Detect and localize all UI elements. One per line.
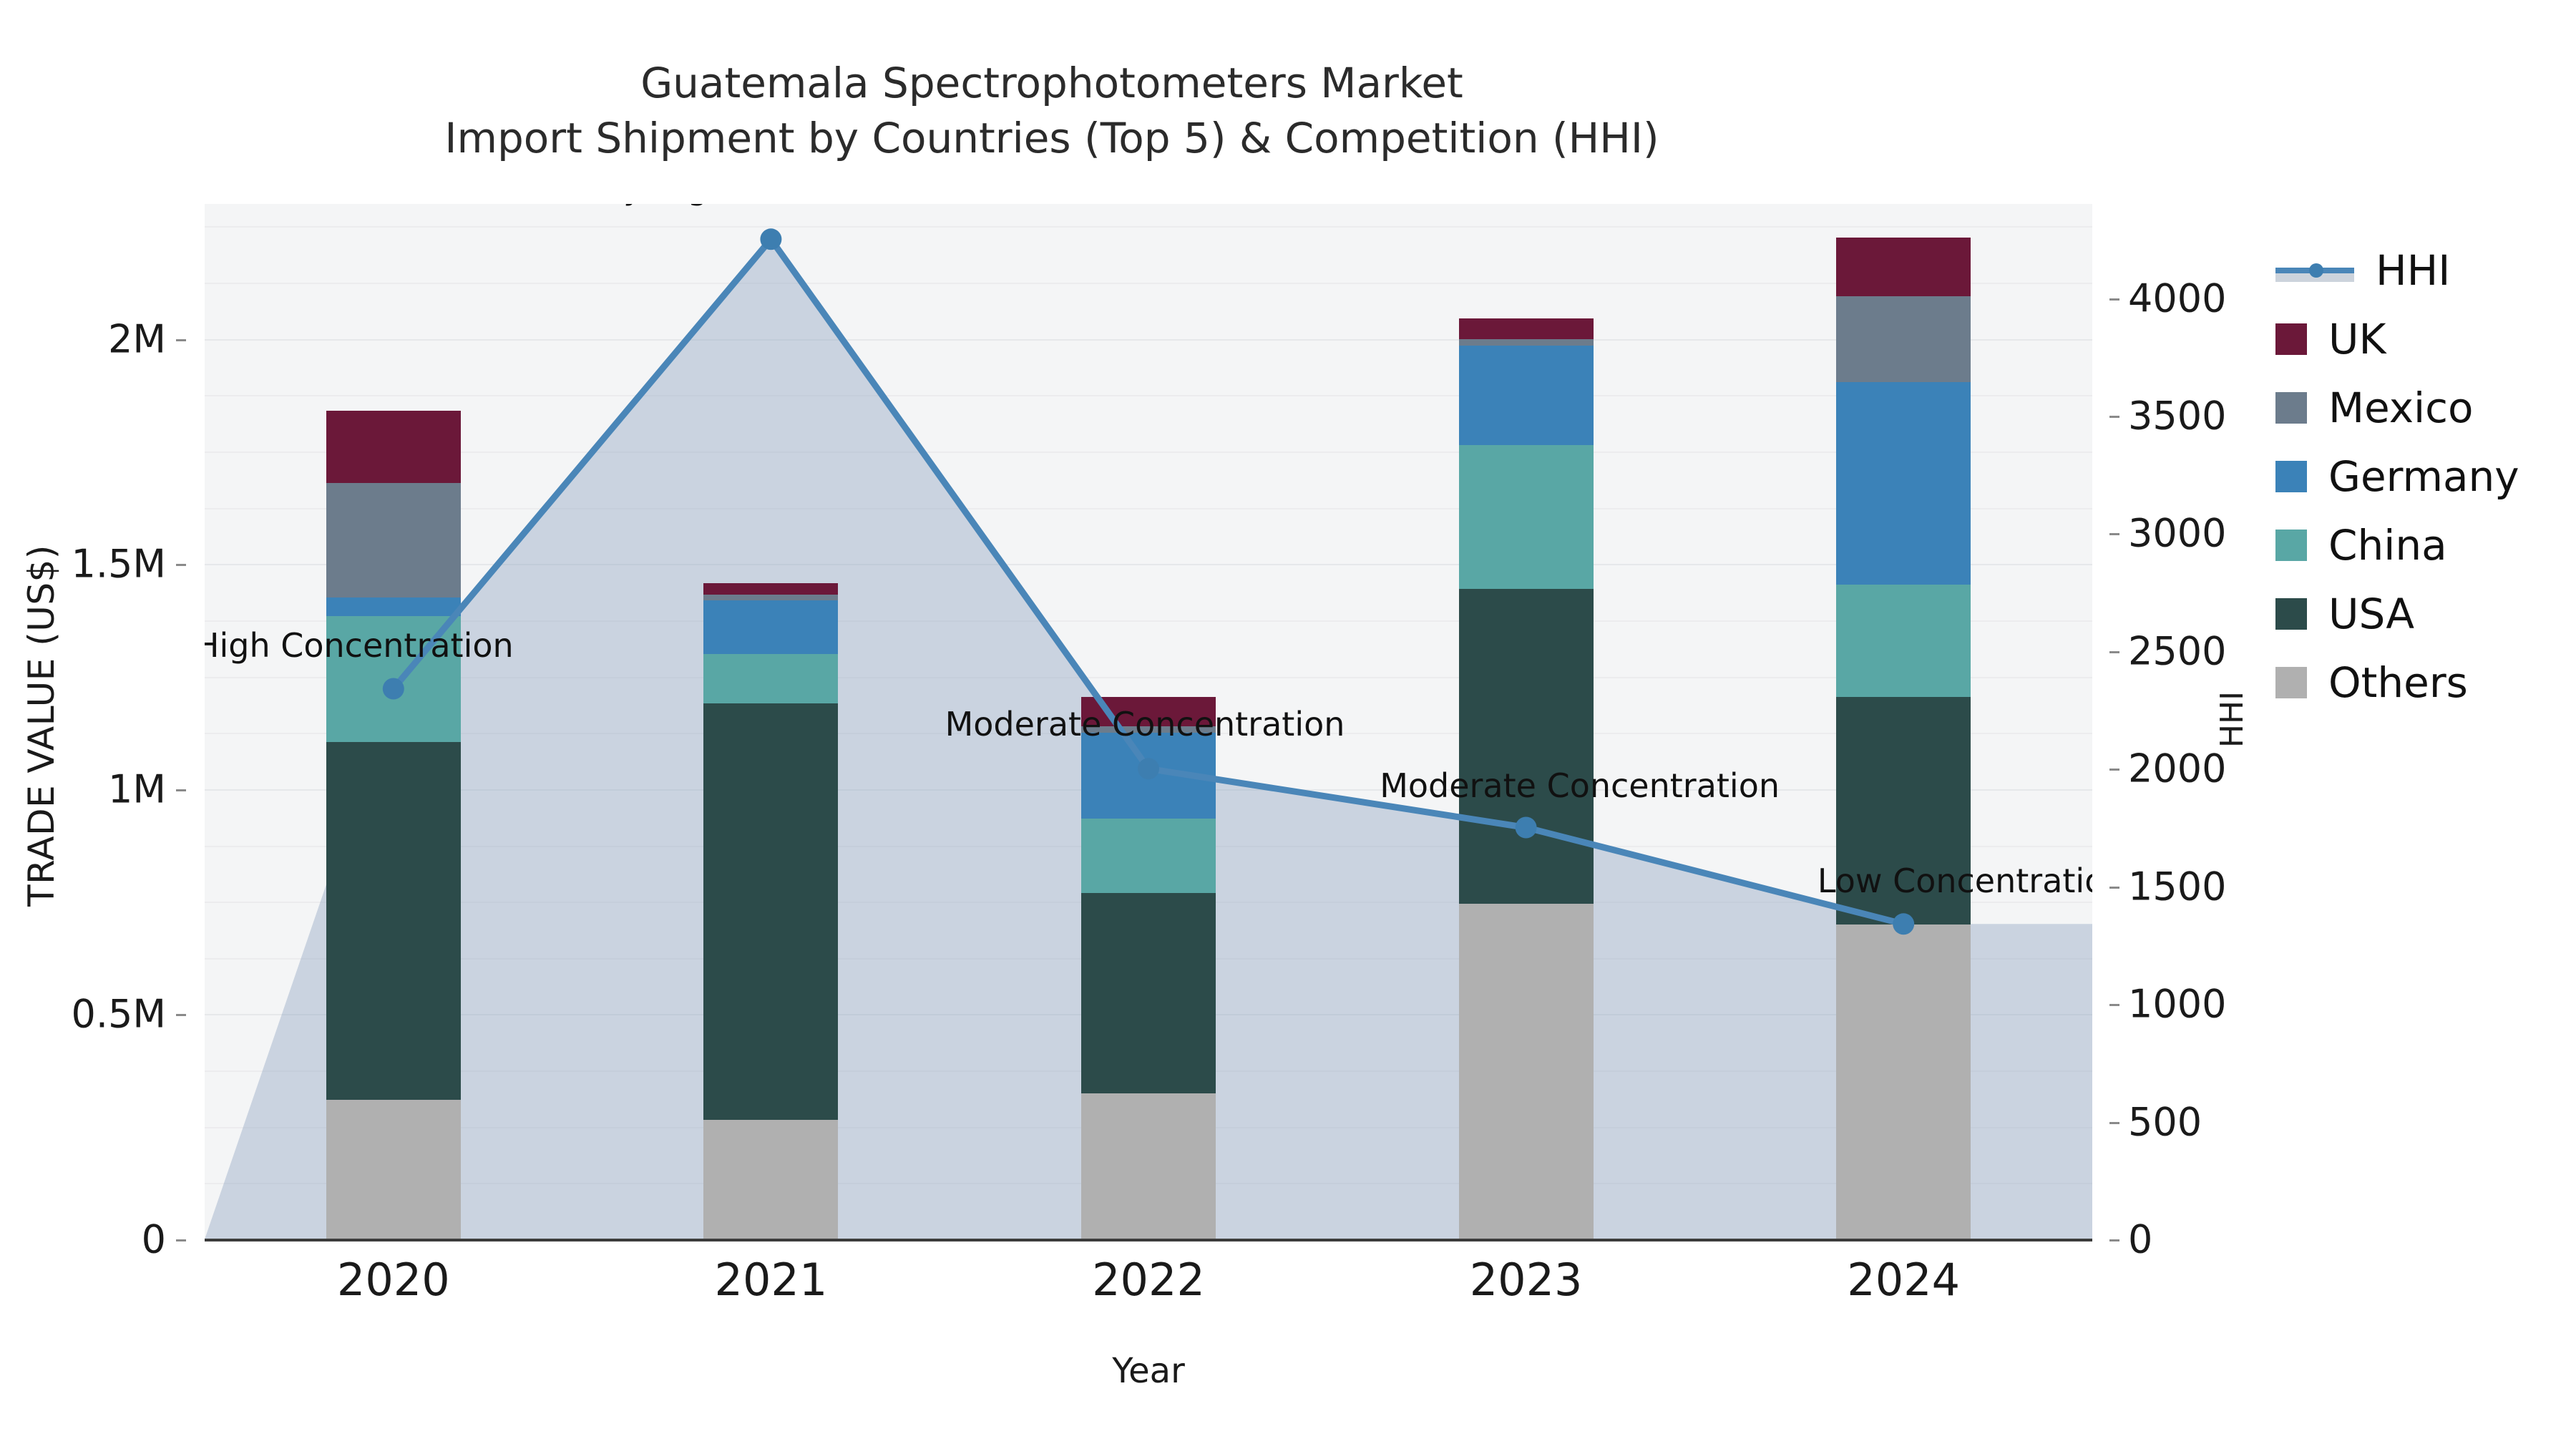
legend-label: HHI (2376, 246, 2450, 295)
legend-swatch-germany (2275, 461, 2307, 492)
annotation-label: Very High Concentration (570, 204, 972, 207)
y-axis-right-tick (2109, 298, 2119, 301)
legend-swatch-usa (2275, 598, 2307, 630)
legend-label: China (2328, 521, 2447, 570)
y-axis-right-tick-label: 3500 (2128, 393, 2226, 438)
legend-swatch-china (2275, 530, 2307, 561)
y-axis-left-tick-label: 0 (142, 1217, 166, 1262)
legend-label: UK (2328, 315, 2386, 364)
x-axis-tick-label-2022: 2022 (1092, 1254, 1205, 1306)
y-axis-left-tick-label: 1M (108, 766, 166, 811)
plot-area: High ConcentrationVery High Concentratio… (205, 204, 2092, 1239)
y-axis-right-tick (2109, 1122, 2119, 1124)
y-axis-right-title: HHI (2214, 691, 2250, 748)
y-axis-right-tick-label: 2500 (2128, 628, 2226, 673)
legend-line-marker (2275, 255, 2354, 286)
x-axis-tick-label-2024: 2024 (1847, 1254, 1960, 1306)
y-axis-left-tick (176, 1014, 186, 1016)
y-axis-right-tick (2109, 887, 2119, 889)
legend-item-others[interactable]: Others (2275, 648, 2576, 717)
y-axis-right-tick-label: 0 (2128, 1217, 2152, 1262)
chart-title-line2: Import Shipment by Countries (Top 5) & C… (0, 111, 2104, 166)
y-axis-left-tick (176, 564, 186, 566)
x-axis-tick-label-2023: 2023 (1470, 1254, 1583, 1306)
x-axis-title: Year (205, 1351, 2092, 1391)
y-axis-right-tick-label: 3000 (2128, 511, 2226, 556)
legend-item-germany[interactable]: Germany (2275, 442, 2576, 511)
annotation-label: High Concentration (205, 626, 514, 665)
y-axis-right-tick (2109, 416, 2119, 418)
legend: HHIUKMexicoGermanyChinaUSAOthers (2275, 236, 2576, 717)
legend-label: Mexico (2328, 384, 2474, 432)
y-axis-left: TRADE VALUE (US$) 00.5M1M1.5M2M (0, 204, 193, 1239)
y-axis-right-tick-label: 500 (2128, 1099, 2202, 1144)
legend-swatch-mexico (2275, 392, 2307, 424)
y-axis-right-tick (2109, 533, 2119, 535)
annotation-label: Moderate Concentration (945, 705, 1345, 743)
x-axis-tick-label-2020: 2020 (337, 1254, 450, 1306)
y-axis-right-tick (2109, 651, 2119, 653)
y-axis-right-tick-label: 2000 (2128, 746, 2226, 791)
y-axis-left-title: TRADE VALUE (US$) (21, 332, 62, 1119)
legend-item-uk[interactable]: UK (2275, 305, 2576, 374)
y-axis-left-tick (176, 339, 186, 341)
y-axis-left-tick (176, 789, 186, 791)
y-axis-right-tick (2109, 1004, 2119, 1006)
legend-item-usa[interactable]: USA (2275, 580, 2576, 648)
x-axis-tick-label-2021: 2021 (714, 1254, 827, 1306)
annotation-label: Moderate Concentration (1380, 766, 1780, 805)
chart-root: Guatemala Spectrophotometers Market Impo… (0, 0, 2576, 1449)
legend-swatch-uk (2275, 323, 2307, 355)
legend-label: Others (2328, 658, 2468, 707)
annotation-label: Low Concentration (1818, 862, 2092, 900)
legend-label: Germany (2328, 452, 2519, 501)
chart-title-line1: Guatemala Spectrophotometers Market (640, 59, 1463, 107)
x-axis-line (205, 1239, 2092, 1241)
y-axis-right-tick (2109, 769, 2119, 771)
y-axis-right-tick (2109, 1239, 2119, 1241)
legend-item-mexico[interactable]: Mexico (2275, 374, 2576, 442)
legend-item-hhi[interactable]: HHI (2275, 236, 2576, 305)
legend-swatch-others (2275, 667, 2307, 698)
y-axis-left-tick-label: 0.5M (72, 992, 166, 1037)
legend-label: USA (2328, 590, 2414, 638)
chart-title: Guatemala Spectrophotometers Market Impo… (0, 56, 2104, 165)
legend-item-china[interactable]: China (2275, 511, 2576, 580)
y-axis-left-tick-label: 2M (108, 316, 166, 361)
y-axis-left-tick (176, 1239, 186, 1241)
y-axis-right-tick-label: 1000 (2128, 982, 2226, 1027)
y-axis-right-tick-label: 1500 (2128, 864, 2226, 909)
y-axis-right-tick-label: 4000 (2128, 275, 2226, 321)
y-axis-left-tick-label: 1.5M (72, 542, 166, 587)
